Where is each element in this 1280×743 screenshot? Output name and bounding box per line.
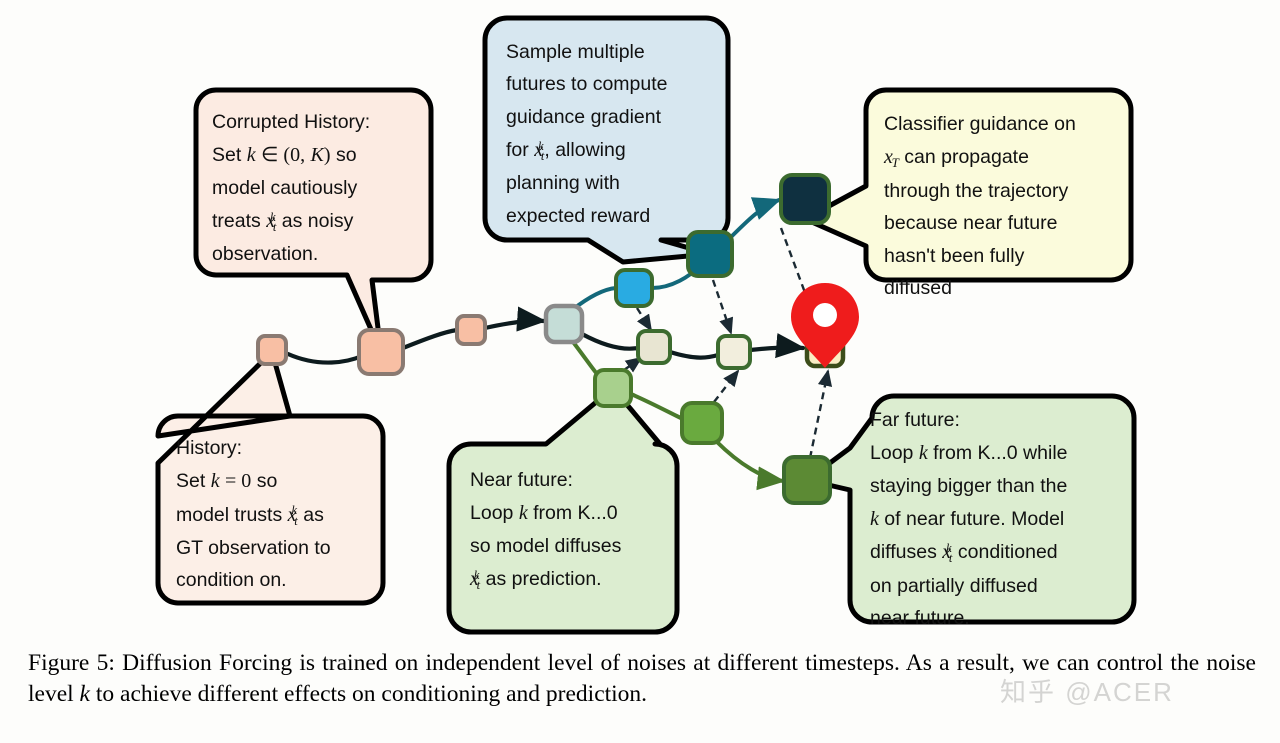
edge-m2-goal bbox=[750, 347, 803, 350]
caption-body-2: to achieve different effects on conditio… bbox=[90, 681, 647, 707]
node-history-1 bbox=[258, 336, 286, 364]
bubble-sample-futures bbox=[485, 18, 728, 262]
node-history-3 bbox=[457, 316, 485, 344]
edge-h2-cur bbox=[485, 321, 544, 328]
edge-cur-m1 bbox=[582, 334, 638, 349]
dash-g3-goal bbox=[810, 371, 828, 458]
dash-g2-m2 bbox=[714, 371, 738, 402]
bubble-history bbox=[158, 352, 383, 603]
figure-container: Corrupted History: Set k ∈ (0, K) so mod… bbox=[0, 0, 1280, 743]
node-corrupted-history bbox=[359, 330, 403, 374]
figure-caption: Figure 5: Diffusion Forcing is trained o… bbox=[28, 648, 1256, 709]
dash-b1-m1 bbox=[637, 308, 651, 330]
edge-g2-g3 bbox=[716, 441, 783, 481]
node-blue-branch-2 bbox=[688, 232, 732, 276]
node-mid-trajectory-1 bbox=[638, 331, 670, 363]
edge-h0-h1 bbox=[288, 354, 362, 363]
node-green-branch-3 bbox=[784, 457, 830, 503]
bubble-classifier-guidance bbox=[805, 90, 1131, 280]
node-blue-branch-3 bbox=[781, 175, 829, 223]
edge-m1-m2 bbox=[670, 352, 718, 358]
bubble-near-future bbox=[449, 388, 677, 632]
edge-b2-b3 bbox=[728, 200, 779, 240]
edge-h1-h2 bbox=[403, 330, 457, 348]
bubble-corrupted-history bbox=[196, 90, 431, 352]
diagram-svg bbox=[0, 0, 1280, 743]
node-current bbox=[546, 306, 582, 342]
bubble-far-future bbox=[807, 396, 1134, 622]
node-blue-branch-1 bbox=[616, 270, 652, 306]
goal-pin-icon bbox=[791, 283, 859, 368]
node-green-branch-2 bbox=[682, 403, 722, 443]
caption-prefix: Figure 5: bbox=[28, 650, 115, 676]
caption-symbol: k bbox=[80, 681, 90, 707]
node-green-branch-1 bbox=[595, 370, 631, 406]
dash-b2-m2 bbox=[713, 280, 731, 333]
node-mid-trajectory-2 bbox=[718, 336, 750, 368]
